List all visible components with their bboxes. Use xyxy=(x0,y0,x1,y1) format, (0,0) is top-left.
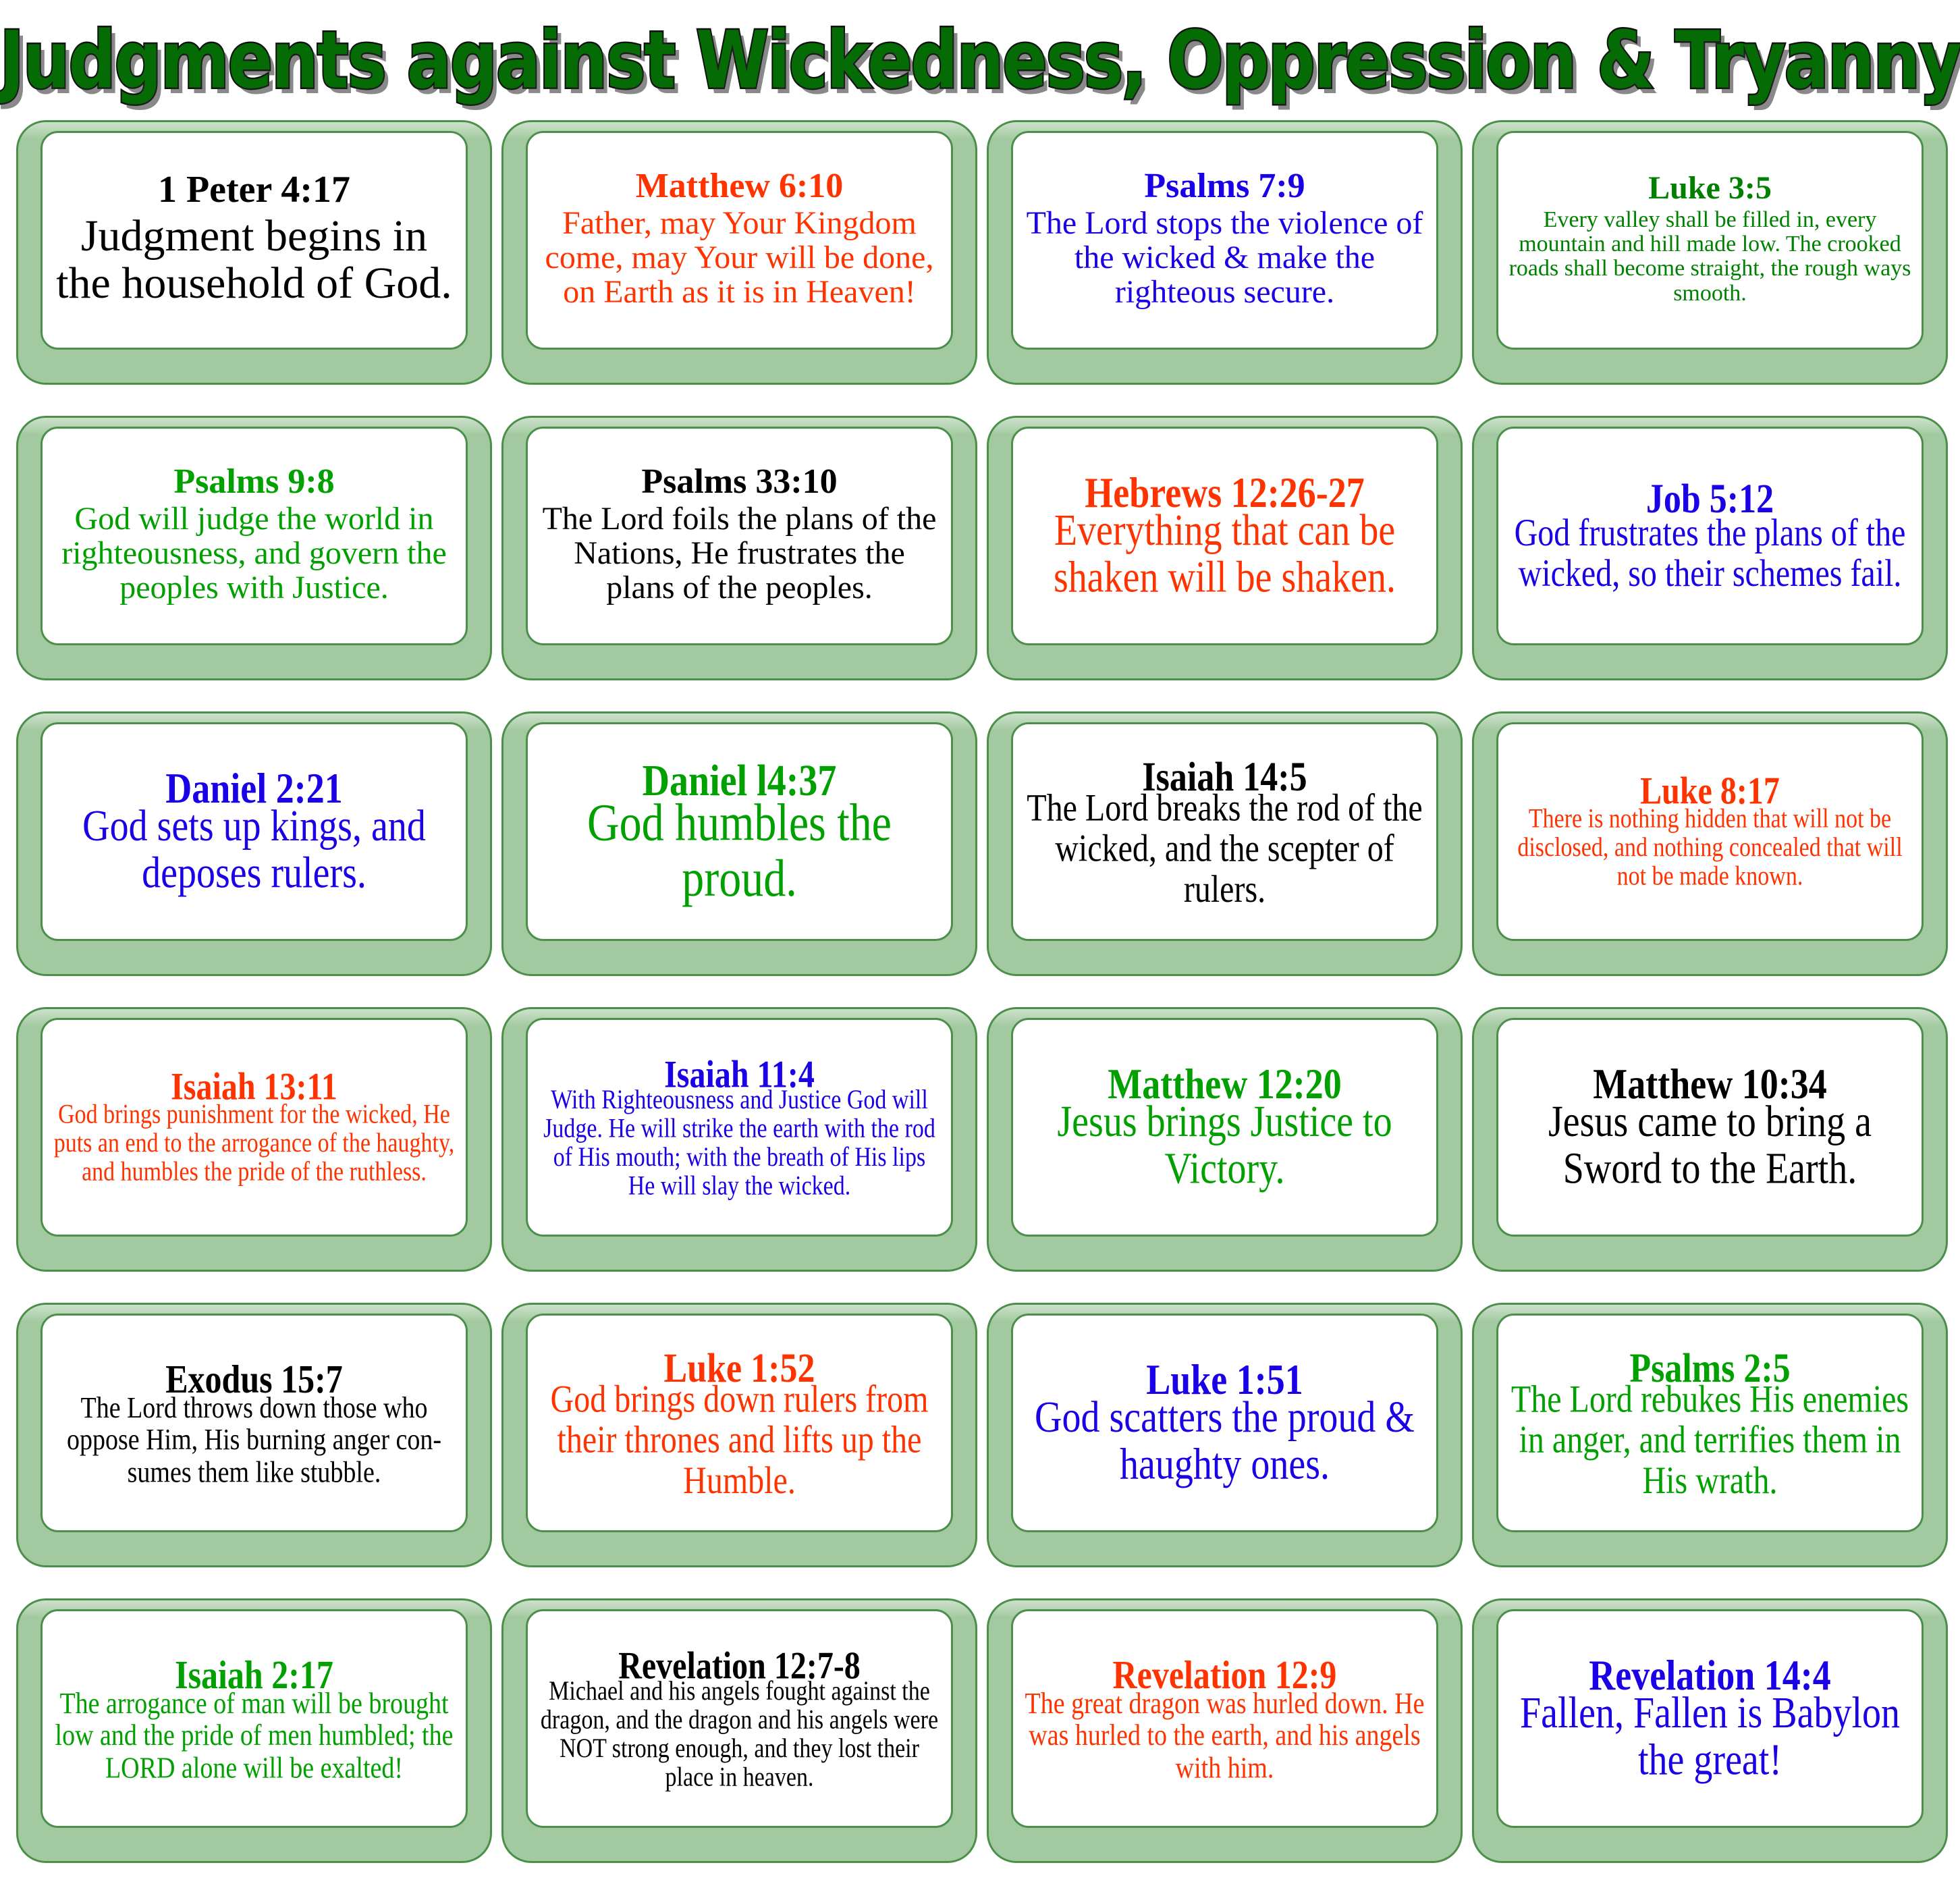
verse-text: The Lord foils the plans of the Nations,… xyxy=(537,502,942,605)
verse-text: The arrogance of man will be brought low… xyxy=(52,1687,456,1784)
verse-text: The Lord throws down those who oppose Hi… xyxy=(52,1392,456,1488)
verse-card: Exodus 15:7The Lord throws down those wh… xyxy=(16,1303,492,1567)
verse-text: The great dragon was hurled down. He was… xyxy=(1023,1687,1427,1784)
card-inner-panel: Luke 8:17There is nothing hidden that wi… xyxy=(1496,722,1924,941)
card-inner-panel: Luke 3:5Every valley shall be filled in,… xyxy=(1496,131,1924,350)
card-inner-panel: 1 Peter 4:17Judgment begins in the house… xyxy=(40,131,468,350)
verse-text: Every valley shall be filled in, every m… xyxy=(1508,208,1912,305)
verse-card-grid: 1 Peter 4:17Judgment begins in the house… xyxy=(0,120,1960,1890)
verse-card: Luke 8:17There is nothing hidden that wi… xyxy=(1472,711,1948,976)
card-inner-panel: Isaiah 14:5The Lord breaks the rod of th… xyxy=(1011,722,1438,941)
card-inner-panel: Isaiah 2:17The arrogance of man will be … xyxy=(40,1609,468,1828)
card-inner-panel: Daniel l4:37God humbles the proud. xyxy=(526,722,953,941)
card-inner-panel: Psalms 33:10The Lord foils the plans of … xyxy=(526,427,953,645)
verse-card: Luke 1:52God brings down rulers from the… xyxy=(501,1303,977,1567)
card-inner-panel: Matthew 12:20Jesus brings Justice to Vic… xyxy=(1011,1018,1438,1237)
verse-card: Hebrews 12:26-27Everything that can be s… xyxy=(987,416,1463,680)
verse-card: Psalms 33:10The Lord foils the plans of … xyxy=(501,416,977,680)
verse-text: God will judge the world in righteousnes… xyxy=(52,502,456,605)
verse-card: Isaiah 2:17The arrogance of man will be … xyxy=(16,1598,492,1863)
card-inner-panel: Matthew 10:34Jesus came to bring a Sword… xyxy=(1496,1018,1924,1237)
card-inner-panel: Revelation 12:9The great dragon was hurl… xyxy=(1011,1609,1438,1828)
verse-text: Jesus brings Justice to Victory. xyxy=(1023,1098,1427,1193)
card-inner-panel: Exodus 15:7The Lord throws down those wh… xyxy=(40,1314,468,1532)
verse-card: Psalms 9:8God will judge the world in ri… xyxy=(16,416,492,680)
verse-text: Judgment begins in the household of God. xyxy=(52,213,456,307)
verse-card: Job 5:12God frustrates the plans of the … xyxy=(1472,416,1948,680)
verse-card: Luke 1:51God scatters the proud & haught… xyxy=(987,1303,1463,1567)
card-inner-panel: Isaiah 11:4With Righteousness and Justic… xyxy=(526,1018,953,1237)
verse-card: Psalms 2:5The Lord rebukes His enemies i… xyxy=(1472,1303,1948,1567)
card-inner-panel: Revelation 14:4Fallen, Fallen is Babylon… xyxy=(1496,1609,1924,1828)
card-inner-panel: Daniel 2:21God sets up kings, and depose… xyxy=(40,722,468,941)
verse-text: God humbles the proud. xyxy=(537,795,942,907)
verse-reference: Psalms 9:8 xyxy=(173,464,334,500)
card-inner-panel: Hebrews 12:26-27Everything that can be s… xyxy=(1011,427,1438,645)
card-inner-panel: Luke 1:52God brings down rulers from the… xyxy=(526,1314,953,1532)
verse-card: Isaiah 13:11God brings punishment for th… xyxy=(16,1007,492,1272)
card-inner-panel: Psalms 2:5The Lord rebukes His enemies i… xyxy=(1496,1314,1924,1532)
verse-reference: Matthew 6:10 xyxy=(636,168,844,204)
verse-text: God scatters the proud & haughty ones. xyxy=(1023,1394,1427,1488)
verse-card: Revelation 12:9The great dragon was hurl… xyxy=(987,1598,1463,1863)
card-inner-panel: Luke 1:51God scatters the proud & haught… xyxy=(1011,1314,1438,1532)
card-inner-panel: Isaiah 13:11God brings punishment for th… xyxy=(40,1018,468,1237)
verse-text: Jesus came to bring a Sword to the Earth… xyxy=(1508,1098,1912,1193)
verse-text: The Lord stops the violence of the wicke… xyxy=(1023,207,1427,310)
verse-text: The Lord breaks the rod of the wicked, a… xyxy=(1023,788,1427,910)
card-inner-panel: Psalms 7:9The Lord stops the violence of… xyxy=(1011,131,1438,350)
verse-reference: 1 Peter 4:17 xyxy=(158,171,350,209)
verse-text: God sets up kings, and deposes rulers. xyxy=(52,803,456,897)
verse-text: There is nothing hidden that will not be… xyxy=(1508,805,1912,892)
verse-card: Daniel 2:21God sets up kings, and depose… xyxy=(16,711,492,976)
verse-reference: Luke 3:5 xyxy=(1648,172,1772,205)
verse-card: Matthew 6:10Father, may Your Kingdom com… xyxy=(501,120,977,385)
verse-card: Isaiah 14:5The Lord breaks the rod of th… xyxy=(987,711,1463,976)
verse-card: Psalms 7:9The Lord stops the violence of… xyxy=(987,120,1463,385)
verse-text: Father, may Your Kingdom come, may Your … xyxy=(537,207,942,310)
card-inner-panel: Revelation 12:7-8Michael and his angels … xyxy=(526,1609,953,1828)
verse-card: Matthew 12:20Jesus brings Justice to Vic… xyxy=(987,1007,1463,1272)
verse-text: God frustrates the plans of the wicked, … xyxy=(1508,513,1912,594)
verse-text: The Lord rebukes His enemies in anger, a… xyxy=(1508,1380,1912,1501)
verse-text: God brings punishment for the wicked, He… xyxy=(52,1101,456,1187)
card-inner-panel: Psalms 9:8God will judge the world in ri… xyxy=(40,427,468,645)
verse-text: With Righteousness and Justice God will … xyxy=(537,1086,942,1201)
verse-card: Isaiah 11:4With Righteousness and Justic… xyxy=(501,1007,977,1272)
verse-text: Michael and his angels fought against th… xyxy=(537,1677,942,1792)
page-title: Judgments against Wickedness, Oppression… xyxy=(0,20,1960,99)
verse-card: Matthew 10:34Jesus came to bring a Sword… xyxy=(1472,1007,1948,1272)
verse-card: Revelation 14:4Fallen, Fallen is Babylon… xyxy=(1472,1598,1948,1863)
verse-card: Revelation 12:7-8Michael and his angels … xyxy=(501,1598,977,1863)
verse-reference: Psalms 33:10 xyxy=(641,464,837,500)
verse-reference: Psalms 7:9 xyxy=(1144,168,1305,204)
verse-card: Luke 3:5Every valley shall be filled in,… xyxy=(1472,120,1948,385)
verse-card: 1 Peter 4:17Judgment begins in the house… xyxy=(16,120,492,385)
card-inner-panel: Job 5:12God frustrates the plans of the … xyxy=(1496,427,1924,645)
card-inner-panel: Matthew 6:10Father, may Your Kingdom com… xyxy=(526,131,953,350)
verse-text: God brings down rulers from their throne… xyxy=(537,1380,942,1501)
verse-text: Fallen, Fallen is Babylon the great! xyxy=(1508,1690,1912,1784)
verse-card: Daniel l4:37God humbles the proud. xyxy=(501,711,977,976)
verse-text: Everything that can be shaken will be sh… xyxy=(1023,507,1427,601)
poster-title-bar: Judgments against Wickedness, Oppression… xyxy=(0,0,1960,120)
